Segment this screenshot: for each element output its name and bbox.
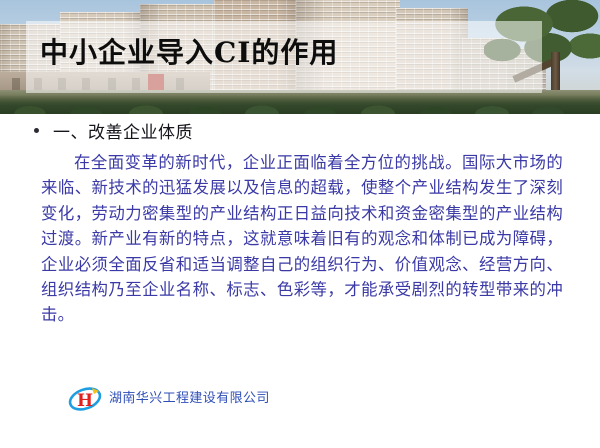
- slide-banner-photo: 中小企业导入CI的作用: [0, 0, 600, 114]
- bullet-heading: 一、改善企业体质: [34, 122, 193, 144]
- company-footer: H 湖南华兴工程建设有限公司: [68, 384, 270, 414]
- presentation-slide: 中小企业导入CI的作用 一、改善企业体质 在全面变革的新时代，企业正面临着全方位…: [0, 0, 600, 448]
- company-orbit-logo-icon: H: [68, 384, 102, 414]
- hedge-row: [0, 95, 600, 114]
- bullet-dot-icon: [34, 128, 39, 133]
- company-name-label: 湖南华兴工程建设有限公司: [109, 391, 270, 407]
- bullet-heading-label: 一、改善企业体质: [53, 122, 193, 144]
- svg-text:H: H: [77, 391, 93, 411]
- body-paragraph: 在全面变革的新时代，企业正面临着全方位的挑战。国际大市场的来临、新技术的迅猛发展…: [41, 150, 563, 328]
- slide-content: 一、改善企业体质 在全面变革的新时代，企业正面临着全方位的挑战。国际大市场的来临…: [0, 114, 600, 448]
- slide-title: 中小企业导入CI的作用: [40, 36, 338, 70]
